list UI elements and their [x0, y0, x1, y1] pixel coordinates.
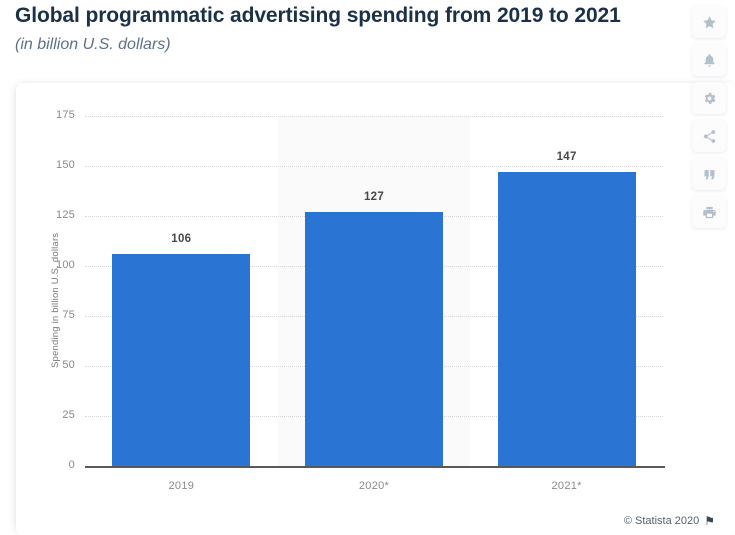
gridline	[85, 166, 663, 167]
bar-value-label: 147	[527, 151, 607, 163]
statista-chart-page: Global programmatic advertising spending…	[0, 0, 735, 535]
bar-2021[interactable]	[498, 172, 636, 466]
gridline	[85, 116, 663, 117]
y-axis-tick-label: 175	[41, 109, 75, 121]
favorite-button[interactable]	[692, 6, 726, 38]
flag-icon: ⚑	[704, 515, 715, 527]
page-subtitle: (in billion U.S. dollars)	[15, 36, 171, 54]
gear-icon	[702, 91, 717, 106]
chart-attribution: © Statista 2020 ⚑	[624, 515, 715, 527]
settings-button[interactable]	[692, 82, 726, 114]
bell-icon	[702, 53, 717, 68]
alert-button[interactable]	[692, 44, 726, 76]
bar-chart-plot: 1751501251007550250Spending in billion U…	[16, 83, 735, 535]
y-axis-tick-label: 0	[41, 459, 75, 471]
citation-button[interactable]	[692, 158, 726, 190]
x-axis-tick-label: 2020*	[324, 480, 424, 492]
chart-toolbar[interactable]	[692, 6, 726, 228]
y-axis-tick-label: 25	[41, 409, 75, 421]
y-axis-tick-label: 150	[41, 159, 75, 171]
y-axis-tick-label: 125	[41, 209, 75, 221]
bar-value-label: 127	[334, 191, 414, 203]
share-icon	[702, 129, 717, 144]
page-title: Global programmatic advertising spending…	[15, 4, 621, 28]
chart-card: 1751501251007550250Spending in billion U…	[16, 83, 735, 535]
printer-icon	[702, 205, 717, 220]
bar-value-label: 106	[141, 233, 221, 245]
share-button[interactable]	[692, 120, 726, 152]
copyright-label: © Statista 2020	[624, 515, 699, 527]
bar-2019[interactable]	[112, 254, 250, 466]
bar-2020[interactable]	[305, 212, 443, 466]
print-button[interactable]	[692, 196, 726, 228]
star-icon	[702, 15, 717, 30]
y-axis-title: Spending in billion U.S. dollars	[50, 233, 61, 368]
x-axis-line	[85, 466, 665, 468]
chart-header: Global programmatic advertising spending…	[0, 0, 735, 78]
x-axis-tick-label: 2021*	[517, 480, 617, 492]
x-axis-tick-label: 2019	[131, 480, 231, 492]
quote-icon	[702, 167, 717, 182]
